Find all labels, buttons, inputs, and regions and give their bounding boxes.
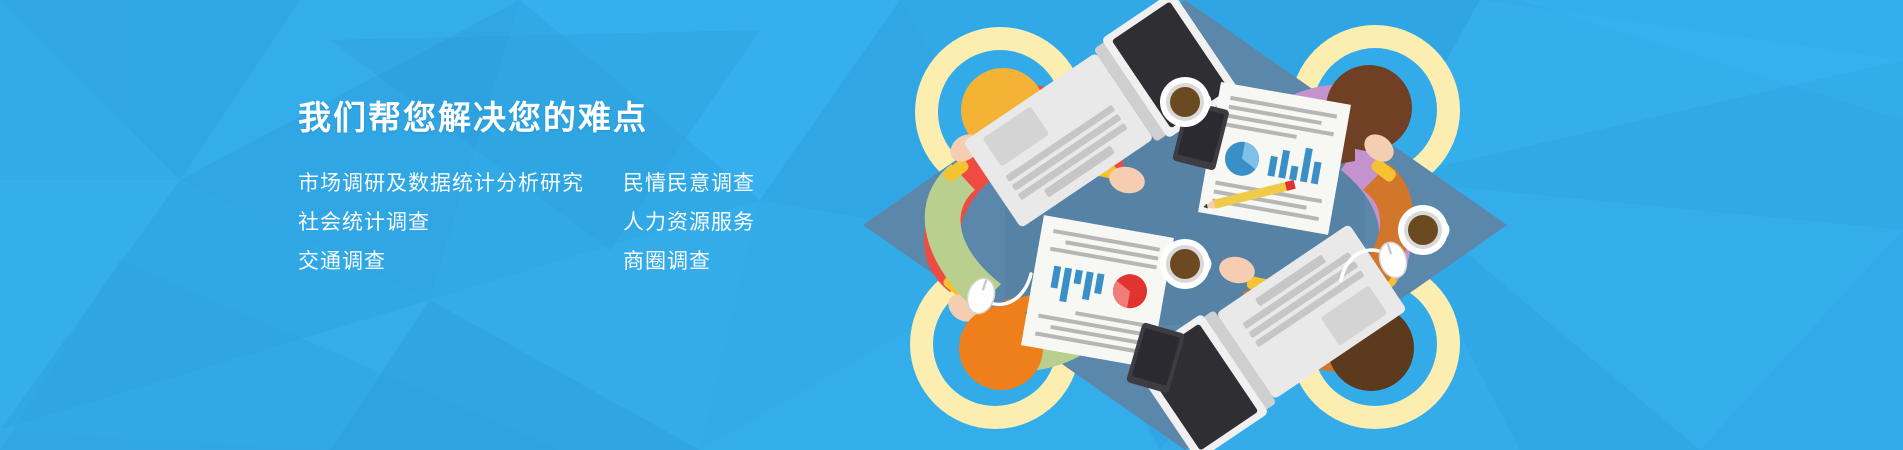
document-top-right[interactable] (1198, 82, 1351, 235)
service-item-market-research: 市场调研及数据统计分析研究 (298, 164, 623, 203)
service-item-social-statistics: 社会统计调查 (298, 203, 623, 242)
banner-content: 我们帮您解决您的难点 市场调研及数据统计分析研究 民情民意调查 社会统计调查 人… (0, 0, 1903, 450)
service-item-traffic-survey: 交通调查 (298, 242, 623, 281)
page-title: 我们帮您解决您的难点 (298, 98, 648, 138)
service-item-hr-services: 人力资源服务 (623, 203, 755, 242)
service-item-public-opinion: 民情民意调查 (623, 164, 755, 203)
service-list: 市场调研及数据统计分析研究 民情民意调查 社会统计调查 人力资源服务 交通调查 … (298, 164, 755, 281)
team-meeting-illustration (855, 0, 1515, 450)
promo-banner: 我们帮您解决您的难点 市场调研及数据统计分析研究 民情民意调查 社会统计调查 人… (0, 0, 1903, 450)
service-item-business-district: 商圈调查 (623, 242, 755, 281)
